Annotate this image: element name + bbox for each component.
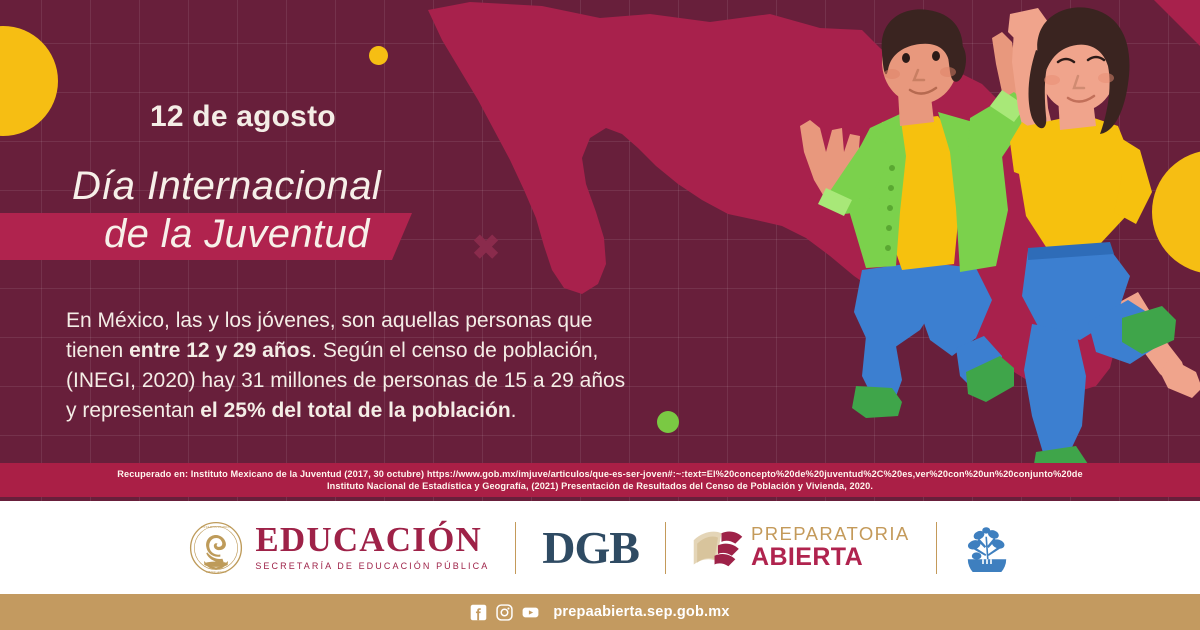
decor-dot-yellow (369, 46, 388, 65)
logo-divider-2 (665, 522, 666, 574)
citation-line-1: Recuperado en: Instituto Mexicano de la … (117, 468, 1082, 480)
logo-agave (963, 524, 1011, 572)
mexico-coat-of-arms-icon: ESTADOS UNIDOS MEXICANOS (189, 521, 243, 575)
headline-block: 12 de agosto Día Internacional de la Juv… (0, 100, 640, 258)
event-date: 12 de agosto (150, 100, 640, 134)
agave-plant-icon (963, 524, 1011, 572)
poster-canvas: ✖ (0, 0, 1200, 630)
footer-bar: prepaabierta.sep.gob.mx (0, 594, 1200, 630)
person-right-young-woman (1008, 7, 1200, 492)
hero-section: ✖ (0, 0, 1200, 501)
logo-preparatoria-abierta: PREPARATORIA ABIERTA (692, 525, 910, 570)
logo-strip: ESTADOS UNIDOS MEXICANOS EDUCACIÓN SECRE… (0, 501, 1200, 594)
title-line-1: Día Internacional (72, 164, 381, 208)
abierta-label: ABIERTA (751, 545, 910, 570)
svg-text:MEXICANOS: MEXICANOS (206, 569, 227, 573)
facebook-icon[interactable] (470, 604, 487, 621)
instagram-icon[interactable] (496, 604, 513, 621)
citation-bar: Recuperado en: Instituto Mexicano de la … (0, 463, 1200, 497)
logo-divider-3 (936, 522, 937, 574)
preparatoria-label: PREPARATORIA (751, 525, 910, 544)
youtube-icon[interactable] (522, 604, 539, 621)
dgb-wordmark: DGB (542, 525, 639, 571)
decor-dot-green (657, 411, 679, 433)
logo-educacion: ESTADOS UNIDOS MEXICANOS EDUCACIÓN SECRE… (189, 521, 489, 575)
body-bold-2: el 25% del total de la población (200, 399, 510, 422)
svg-text:ESTADOS UNIDOS: ESTADOS UNIDOS (202, 525, 232, 529)
open-book-icon (692, 526, 744, 570)
website-url[interactable]: prepaabierta.sep.gob.mx (553, 604, 729, 620)
body-bold-1: entre 12 y 29 años (129, 339, 311, 362)
body-paragraph: En México, las y los jóvenes, son aquell… (66, 306, 641, 426)
logo-divider-1 (515, 522, 516, 574)
logo-dgb: DGB (542, 525, 639, 571)
youth-illustration (770, 0, 1200, 500)
body-text-3: . (511, 399, 517, 422)
page-title: Día Internacional de la Juventud (0, 162, 640, 258)
citation-line-2: Instituto Nacional de Estadística y Geog… (327, 480, 873, 492)
title-line-2: de la Juventud (72, 210, 640, 258)
educacion-wordmark: EDUCACIÓN (255, 522, 489, 557)
educacion-subtitle: SECRETARÍA DE EDUCACIÓN PÚBLICA (255, 560, 489, 573)
person-left-young-man (800, 9, 1048, 418)
